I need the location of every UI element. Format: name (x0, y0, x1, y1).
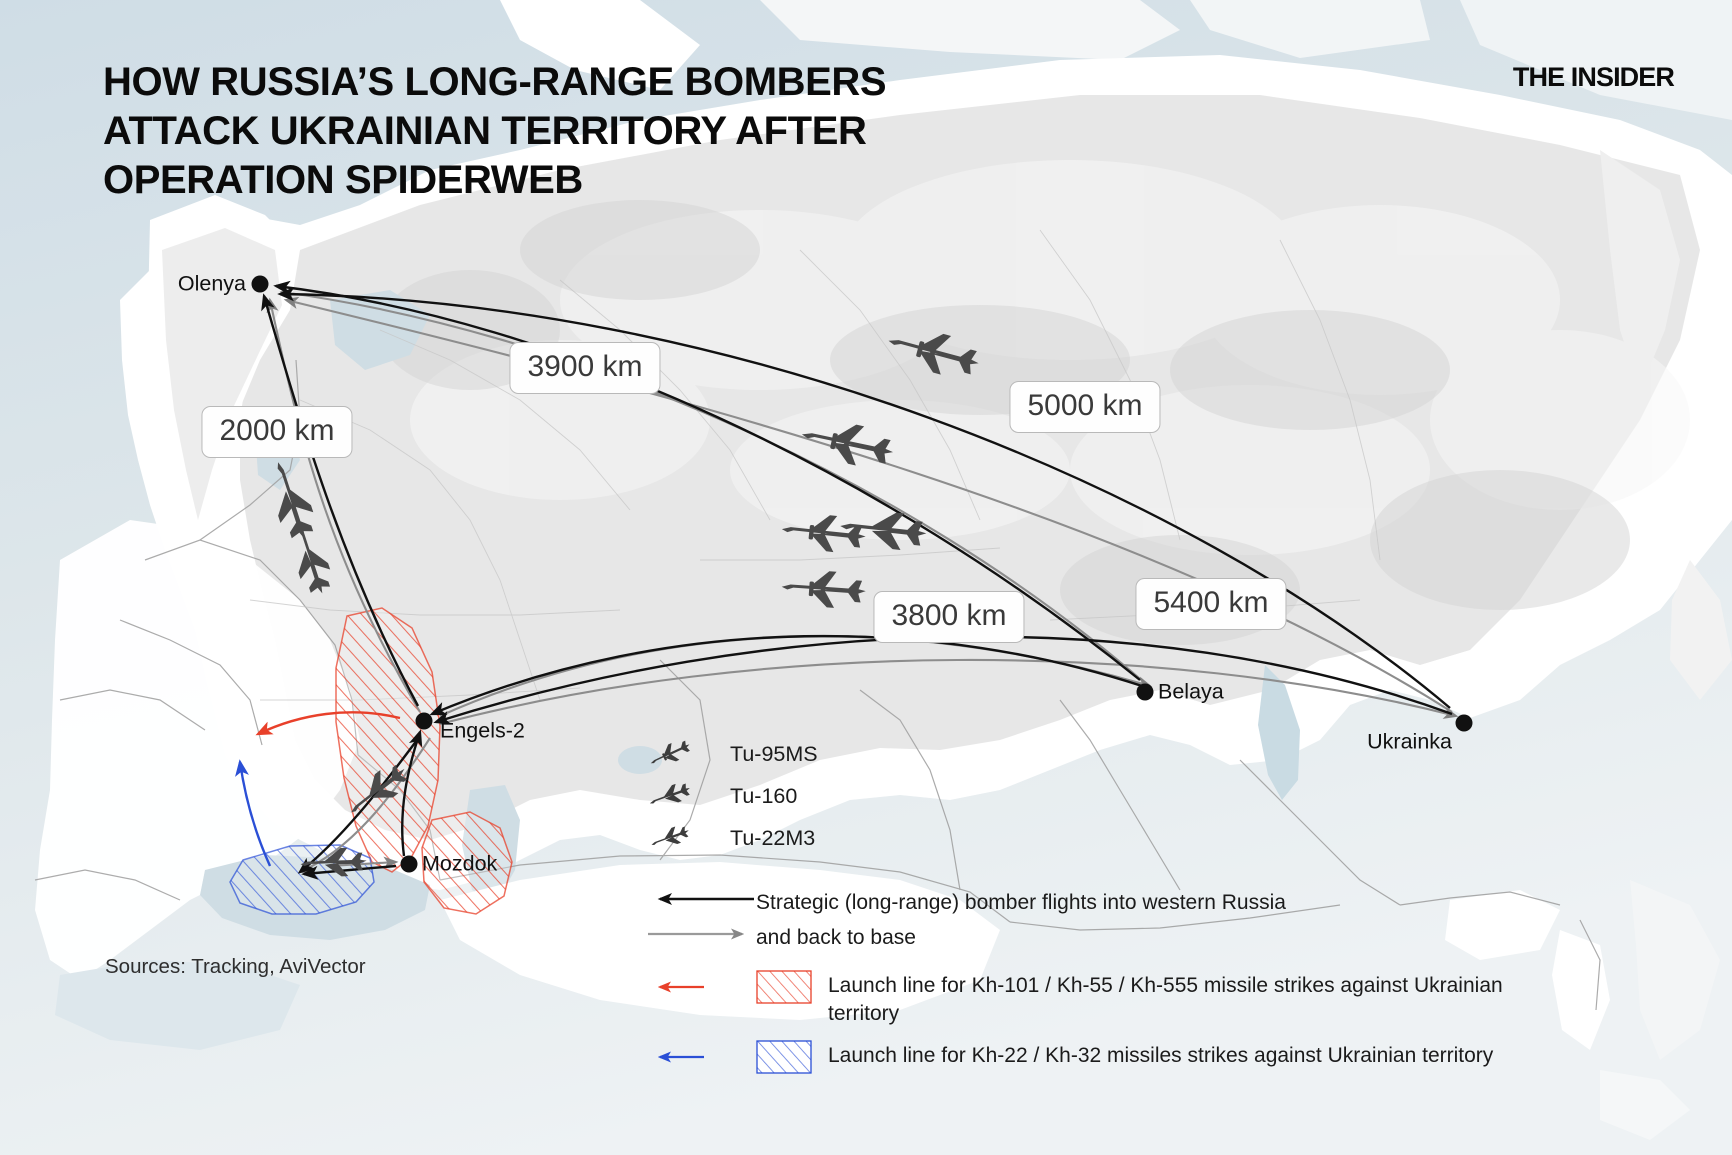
airbase-dot-olenya (252, 276, 269, 293)
airbase-dot-engels-2 (416, 713, 433, 730)
infographic-root: HOW RUSSIA’S LONG-RANGE BOMBERS ATTACK U… (0, 0, 1732, 1155)
base-map (0, 0, 1732, 1155)
airbase-dot-mozdok (401, 856, 418, 873)
airbase-dot-belaya (1137, 684, 1154, 701)
airbase-dot-ukrainka (1456, 715, 1473, 732)
